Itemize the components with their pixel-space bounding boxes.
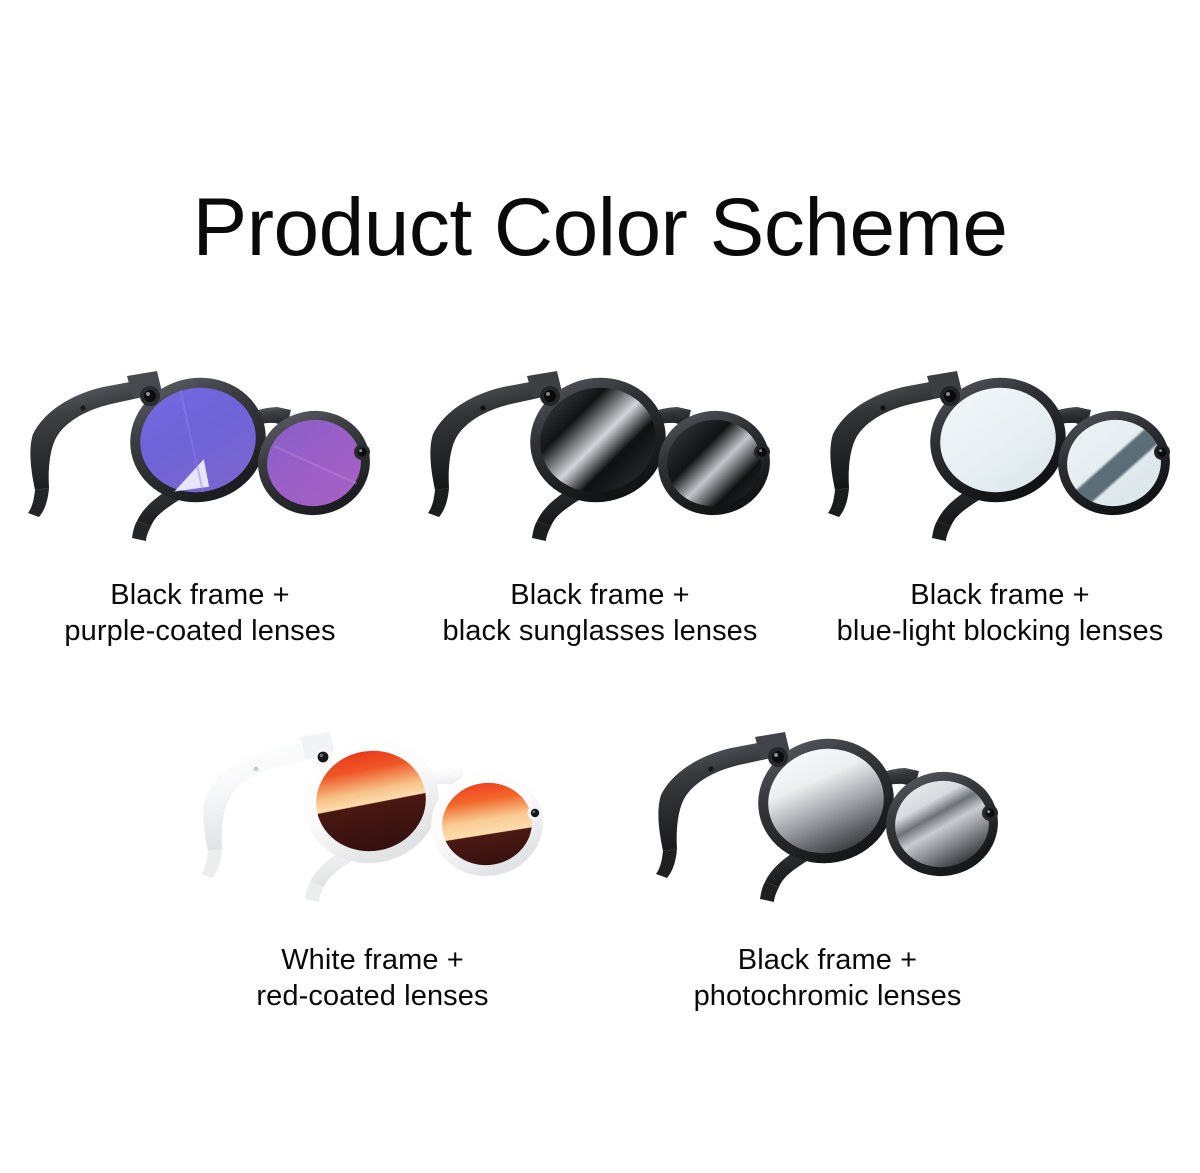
temple-tip-left [201, 849, 222, 878]
glasses-image-red-coated [188, 701, 558, 916]
camera-glint-left [319, 754, 322, 757]
camera-lens-right [757, 447, 766, 456]
product-card-photochromic[interactable]: Black frame + photochromic lenses [600, 701, 1055, 1014]
camera-glint-right [759, 449, 762, 452]
product-caption-purple-coated: Black frame + purple-coated lenses [64, 577, 335, 649]
temple-sensor-dot [480, 405, 485, 410]
product-card-blue-light-blocking[interactable]: Black frame + blue-light blocking lenses [800, 340, 1200, 649]
product-card-black-sunglasses[interactable]: Black frame + black sunglasses lenses [400, 340, 800, 649]
temple-sensor-dot [708, 766, 713, 771]
product-row-top: Black frame + purple-coated lenses [0, 340, 1200, 649]
glasses-image-purple-coated [15, 340, 385, 555]
glasses-image-blue-light-blocking [815, 340, 1185, 555]
temple-tip-left [656, 849, 677, 878]
product-card-purple-coated[interactable]: Black frame + purple-coated lenses [0, 340, 400, 649]
camera-glint-right [359, 449, 362, 452]
camera-glint-left [774, 753, 778, 757]
product-grid: Black frame + purple-coated lenses [0, 340, 1200, 1014]
temple-arm-left [830, 381, 943, 490]
temple-tip-left [428, 488, 449, 517]
glasses-image-photochromic [643, 701, 1013, 916]
camera-glint-left [546, 392, 550, 396]
page-title: Product Color Scheme [0, 187, 1200, 269]
camera-glint-left [146, 392, 150, 396]
camera-glint-right [987, 810, 990, 813]
camera-lens-right [985, 808, 994, 817]
product-caption-red-coated: White frame + red-coated lenses [256, 942, 488, 1014]
temple-arm-left [30, 381, 143, 490]
temple-sensor-dot [80, 405, 85, 410]
product-caption-black-sunglasses: Black frame + black sunglasses lenses [442, 577, 757, 649]
camera-lens-right [357, 447, 366, 456]
camera-lens-right [1157, 447, 1166, 456]
camera-lens-left [772, 751, 784, 763]
product-row-bottom: White frame + red-coated lenses [0, 701, 1200, 1014]
temple-tip-left [28, 488, 49, 517]
temple-arm-left [658, 742, 771, 851]
temple-sensor-dot [880, 405, 885, 410]
camera-lens-left [317, 752, 328, 763]
product-caption-blue-light-blocking: Black frame + blue-light blocking lenses [837, 577, 1164, 649]
temple-arm-left [203, 742, 316, 851]
product-caption-photochromic: Black frame + photochromic lenses [694, 942, 962, 1014]
camera-glint-right [532, 811, 535, 814]
temple-tip-left [828, 488, 849, 517]
camera-glint-right [1159, 449, 1162, 452]
product-card-red-coated[interactable]: White frame + red-coated lenses [145, 701, 600, 1014]
temple-arm-left [430, 381, 543, 490]
temple-sensor-dot [253, 767, 258, 772]
glasses-image-black-sunglasses [415, 340, 785, 555]
camera-lens-left [144, 390, 156, 402]
camera-lens-left [944, 390, 956, 402]
camera-lens-left [544, 390, 556, 402]
camera-glint-left [946, 392, 950, 396]
camera-lens-right [530, 809, 538, 817]
